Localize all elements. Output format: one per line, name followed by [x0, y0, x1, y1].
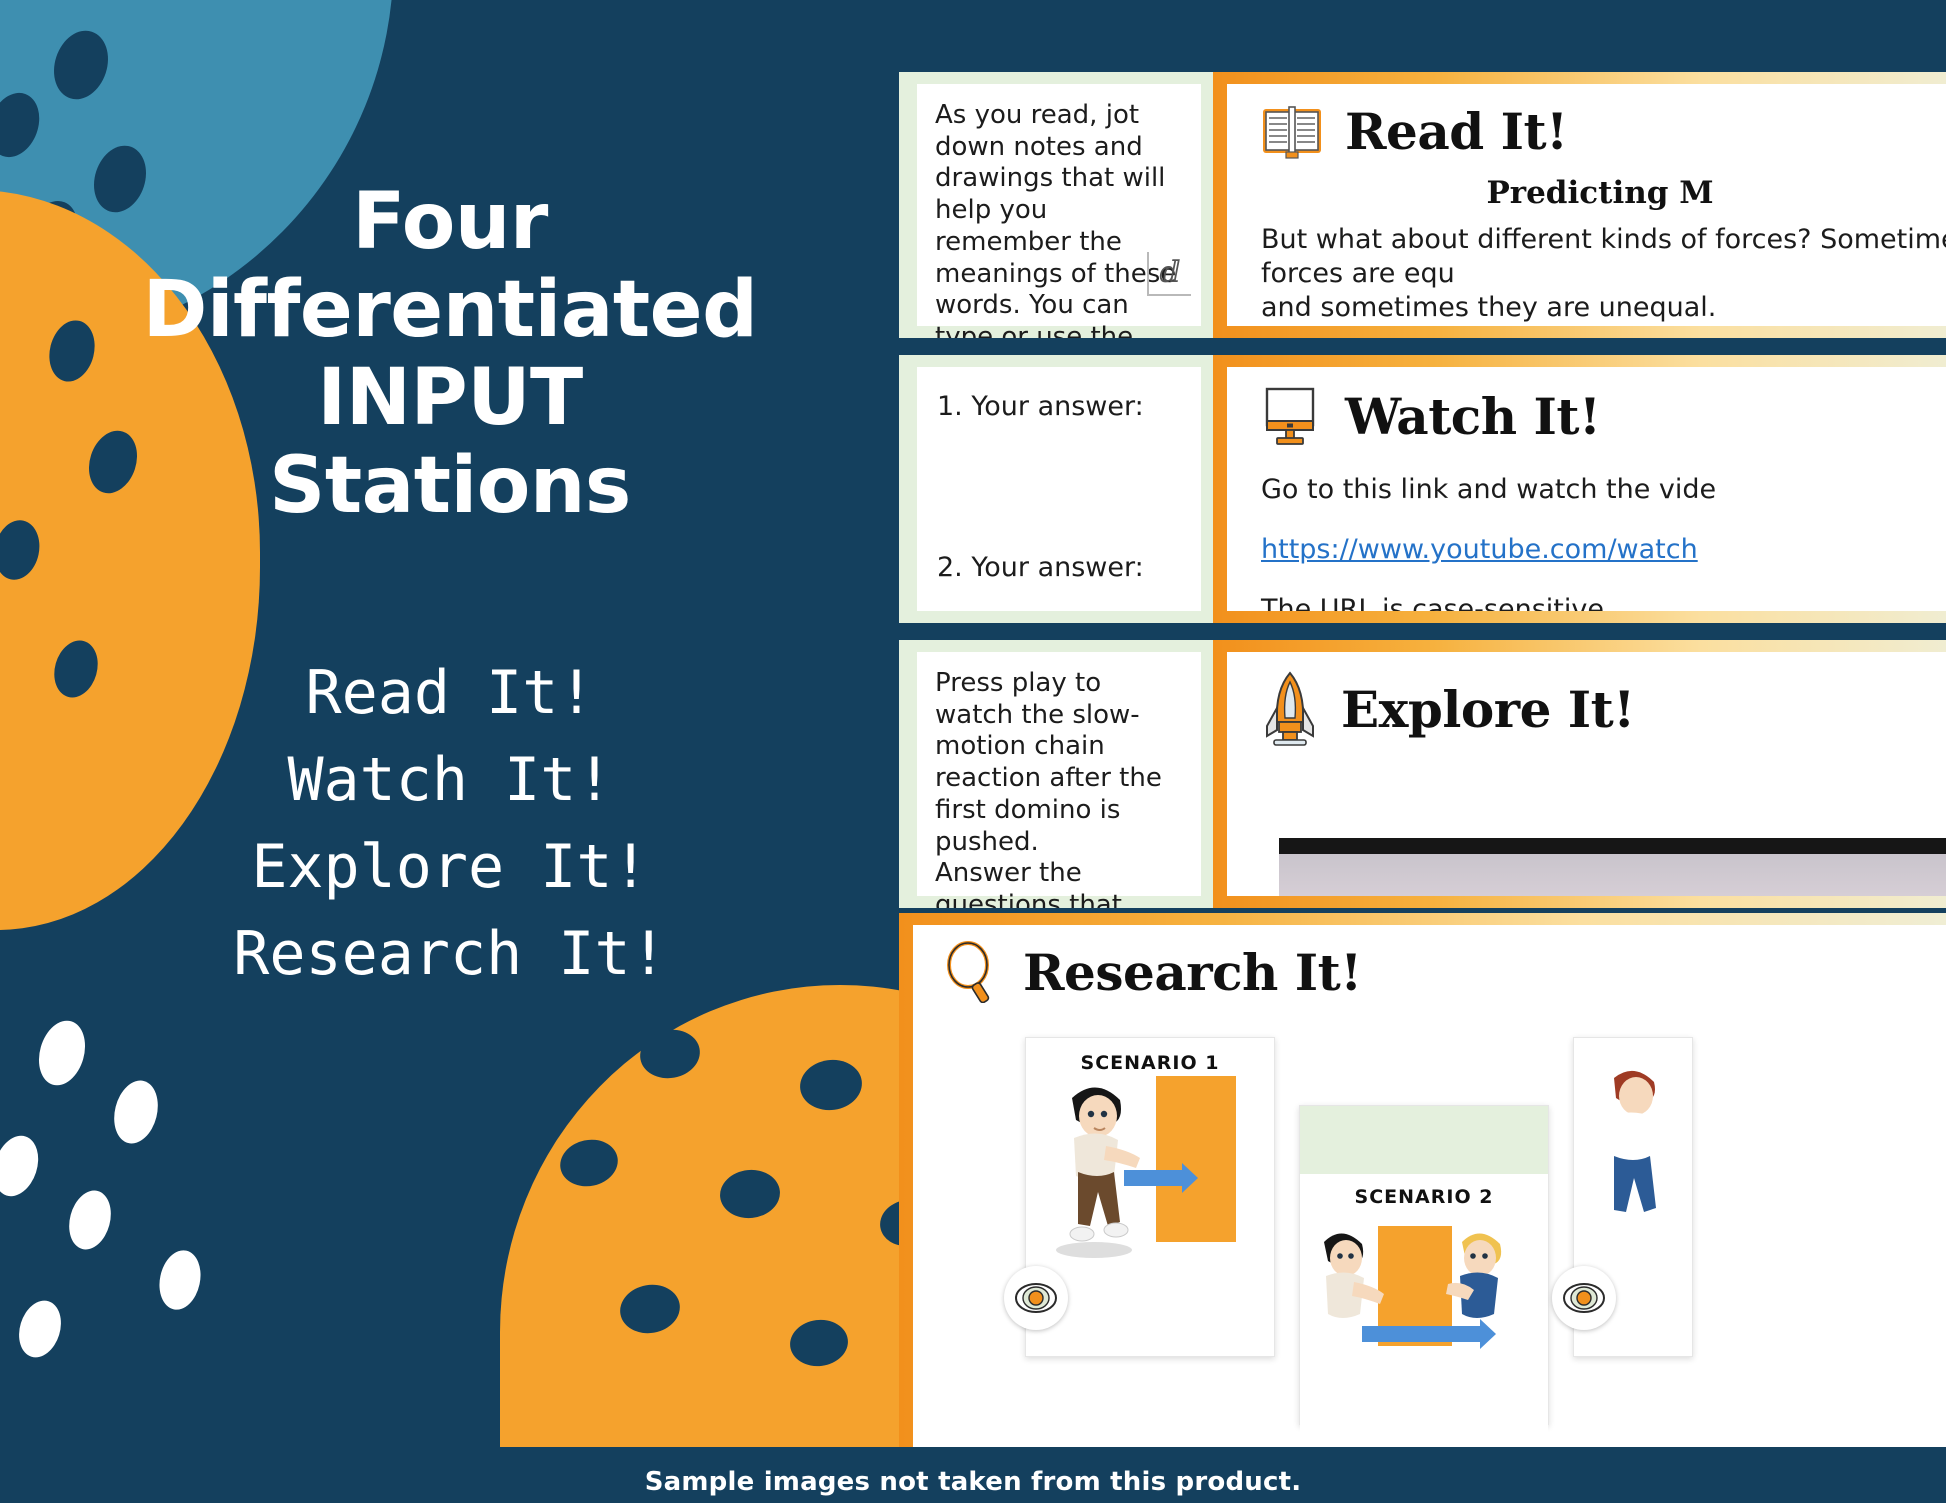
rocket-icon [1261, 670, 1319, 748]
slide-note-pane: Press play to watch the slow-motion chai… [899, 640, 1213, 908]
kid-illustration [1580, 1060, 1690, 1250]
eye-icon[interactable] [1552, 1266, 1616, 1330]
page-title: Four Differentiated INPUT Stations [0, 178, 900, 531]
eye-icon-glyph [1015, 1283, 1057, 1313]
station-list-item-watch: Watch It! [0, 737, 900, 824]
explore-instruction-1: Press play to watch the slow-motion chai… [935, 668, 1185, 858]
eye-icon-glyph [1563, 1283, 1605, 1313]
magnifier-icon [943, 941, 1001, 1003]
kid-illustration-left [1306, 1222, 1386, 1372]
note-box: 1. Your answer: 2. Your answer: [917, 367, 1201, 611]
note-box: Press play to watch the slow-motion chai… [917, 652, 1201, 896]
headline-line-2: Differentiated [0, 266, 900, 354]
push-object [1156, 1076, 1236, 1242]
slide-content-pane: Read It! Predicting M But what about dif… [1213, 72, 1946, 338]
slide-preview-watch-it: 1. Your answer: 2. Your answer: Wa [899, 355, 1946, 623]
station-list: Read It! Watch It! Explore It! Research … [0, 650, 900, 998]
headline-line-1: Four [0, 178, 900, 266]
url-case-note: The URL is case-sensitive. [1261, 593, 1946, 611]
scenario-card-strip: SCENARIO 1 [1025, 1037, 1693, 1425]
video-top-bar [1279, 838, 1946, 854]
article-body-line-1: But what about different kinds of forces… [1261, 224, 1946, 289]
slide-content-pane: Watch It! Go to this link and watch the … [1213, 355, 1946, 623]
kid-illustration-right [1440, 1222, 1520, 1372]
force-arrow [1362, 1326, 1482, 1342]
poster-canvas: Four Differentiated INPUT Stations Read … [0, 0, 1946, 1503]
content-box: Explore It! [1227, 652, 1946, 896]
content-box: Read It! Predicting M But what about dif… [1227, 84, 1946, 326]
station-title: Explore It! [1341, 680, 1635, 739]
station-header: Read It! [1261, 102, 1946, 161]
answer-prompt-2: 2. Your answer: [937, 552, 1144, 585]
embedded-video-preview[interactable] [1279, 838, 1946, 896]
headline-line-4: Stations [0, 442, 900, 530]
scenario-card[interactable] [1573, 1037, 1693, 1357]
slide-preview-stack: As you read, jot down notes and drawings… [899, 0, 1946, 1503]
monitor-icon [1261, 385, 1323, 447]
answer-prompt-1: 1. Your answer: [937, 391, 1144, 424]
scenario-card[interactable]: SCENARIO 2 [1299, 1105, 1549, 1425]
scenario-label: SCENARIO 1 [1026, 1052, 1274, 1074]
content-box: Watch It! Go to this link and watch the … [1227, 367, 1946, 611]
content-box: Research It! SCENARIO 1 [913, 925, 1946, 1491]
article-body-line-2: and sometimes they are unequal. [1261, 292, 1716, 323]
note-instruction-text: As you read, jot down notes and drawings… [935, 100, 1185, 338]
video-viewport [1279, 854, 1946, 896]
scenario-inner: SCENARIO 2 [1300, 1174, 1548, 1440]
video-link-row: https://www.youtube.com/watch [1261, 533, 1946, 567]
eye-icon[interactable] [1004, 1266, 1068, 1330]
note-box: As you read, jot down notes and drawings… [917, 84, 1201, 326]
headline-line-3: INPUT [0, 354, 900, 442]
force-arrow [1124, 1170, 1184, 1186]
article-body: But what about different kinds of forces… [1261, 223, 1946, 326]
scenario-label: SCENARIO 2 [1300, 1174, 1548, 1208]
slide-preview-read-it: As you read, jot down notes and drawings… [899, 72, 1946, 338]
kid-illustration [1044, 1072, 1164, 1262]
station-header: Explore It! [1261, 670, 1946, 748]
slide-note-pane: 1. Your answer: 2. Your answer: [899, 355, 1213, 623]
station-header: Research It! [943, 941, 1946, 1003]
video-link[interactable]: https://www.youtube.com/watch [1261, 534, 1698, 565]
station-header: Watch It! [1261, 385, 1946, 447]
slide-preview-explore-it: Press play to watch the slow-motion chai… [899, 640, 1946, 908]
slide-content-pane: Research It! SCENARIO 1 [899, 913, 1946, 1503]
slide-note-pane: As you read, jot down notes and drawings… [899, 72, 1213, 338]
slide-content-pane: Explore It! [1213, 640, 1946, 908]
station-list-item-research: Research It! [0, 911, 900, 998]
station-list-item-explore: Explore It! [0, 824, 900, 911]
slide-preview-research-it: Research It! SCENARIO 1 [899, 913, 1946, 1503]
watch-instruction: Go to this link and watch the vide [1261, 473, 1946, 507]
open-book-icon [1261, 103, 1323, 161]
station-title: Research It! [1023, 943, 1362, 1002]
scenario-card[interactable]: SCENARIO 1 [1025, 1037, 1275, 1357]
scribble-icon: ⅆ [1147, 252, 1191, 296]
explore-instruction-2: Answer the questions that follow. [935, 858, 1185, 908]
station-list-item-read: Read It! [0, 650, 900, 737]
poster-text-column: Four Differentiated INPUT Stations Read … [0, 0, 900, 1503]
footer-disclaimer: Sample images not taken from this produc… [0, 1467, 1946, 1497]
station-title: Watch It! [1345, 387, 1600, 446]
article-heading: Predicting M [1261, 175, 1946, 211]
station-title: Read It! [1345, 102, 1568, 161]
